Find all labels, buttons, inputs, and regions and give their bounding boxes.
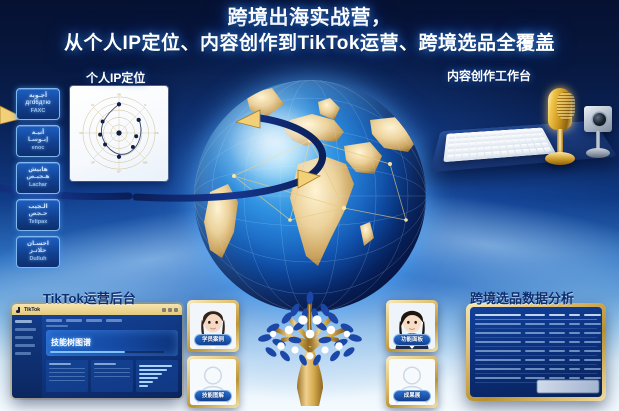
person-card-skill-diagram[interactable]: 技能图解 [187, 356, 239, 408]
sidebar-item[interactable] [15, 336, 33, 339]
content-studio-scene [430, 82, 616, 192]
stat-card[interactable] [46, 360, 88, 392]
cell [525, 368, 545, 370]
music-note-icon [16, 307, 22, 313]
dashboard-sidebar[interactable] [12, 315, 42, 398]
radar-chart: ABCD EFGH IJKL MNOP [78, 92, 160, 174]
cell [549, 377, 565, 379]
microphone-grill [557, 92, 575, 120]
cell [569, 377, 580, 379]
card-heading [94, 363, 116, 365]
svg-text:CD: CD [155, 131, 159, 135]
cell [569, 323, 580, 325]
cell [584, 359, 601, 361]
breadcrumb [46, 325, 68, 327]
card-line [94, 372, 130, 374]
card-line [49, 376, 85, 378]
stat-card[interactable] [91, 360, 133, 392]
cell [475, 323, 521, 325]
camera-lens [593, 113, 606, 126]
table-row[interactable] [475, 329, 597, 338]
bar [139, 365, 172, 367]
badge-line-3: FAXC [17, 108, 59, 116]
ip-positioning-panel: ABCD EFGH IJKL MNOP [70, 86, 168, 181]
card-heading [49, 363, 71, 365]
table-row[interactable] [475, 365, 597, 374]
language-badge[interactable]: احسـان حلاتـز Dulluh [16, 236, 60, 268]
column-header [569, 314, 580, 316]
cell [549, 323, 565, 325]
progress-bar [50, 351, 164, 353]
camera-body [584, 106, 612, 132]
cell [549, 332, 565, 334]
column-header [475, 314, 521, 316]
cell [584, 368, 601, 370]
bar-chart-card[interactable] [136, 360, 178, 392]
cell [475, 350, 521, 352]
person-card-label: 成果展 [393, 390, 431, 402]
sidebar-item[interactable] [15, 328, 36, 331]
bar [139, 385, 148, 387]
sidebar-item[interactable] [15, 344, 35, 347]
caption-content-studio: 内容创作工作台 [447, 67, 531, 84]
dashboard-main: 技能树图谱 [42, 315, 182, 398]
cell [525, 341, 545, 343]
cell [525, 332, 545, 334]
card-line [49, 372, 85, 374]
title-line-2: 从个人IP定位、内容创作到TikTok运营、跨境选品全覆盖 [0, 32, 619, 56]
cell [584, 332, 601, 334]
cell [569, 332, 580, 334]
person-card-results[interactable]: 成果展 [386, 356, 438, 408]
maximize-icon[interactable] [168, 308, 172, 312]
camera-icon [582, 106, 614, 166]
hero-banner: 技能树图谱 [46, 330, 178, 356]
cell [584, 377, 601, 379]
cell [525, 350, 545, 352]
bar [139, 369, 167, 371]
bar [139, 377, 158, 379]
watermark-overlay [537, 380, 599, 393]
minimize-icon[interactable] [162, 308, 166, 312]
analytics-device-frame [466, 303, 606, 401]
cell [549, 341, 565, 343]
column-header [584, 314, 601, 316]
caption-tiktok-backend: TikTok运营后台 [43, 288, 136, 307]
bar [139, 373, 162, 375]
cell [549, 359, 565, 361]
cell [475, 341, 521, 343]
sidebar-item[interactable] [15, 352, 31, 355]
dashboard-body: 技能树图谱 [12, 315, 182, 398]
svg-text:MN: MN [143, 160, 147, 164]
cell [475, 377, 521, 379]
cell [475, 368, 521, 370]
cell [475, 332, 521, 334]
cell [569, 341, 580, 343]
camera-base [586, 148, 610, 158]
bar [139, 381, 153, 383]
person-card-inner: 技能图解 [190, 359, 236, 405]
badge-line-2: حلاتـز [17, 248, 59, 256]
cell [584, 341, 601, 343]
tab-item[interactable] [86, 319, 102, 322]
badge-line-2: إبـوسـا [17, 137, 59, 145]
caption-ip-positioning: 个人IP定位 [86, 69, 145, 86]
poster-title: 跨境出海实战营， 从个人IP定位、内容创作到TikTok运营、跨境选品全覆盖 [0, 6, 619, 56]
person-card-inner: 成果展 [389, 359, 435, 405]
tab-item[interactable] [106, 319, 122, 322]
microphone-body [548, 88, 572, 130]
hero-title: 技能树图谱 [51, 337, 91, 348]
cell [475, 359, 521, 361]
person-card-label: 技能图解 [194, 390, 232, 402]
window-controls[interactable] [162, 308, 178, 312]
person-card-label: 学员案例 [194, 334, 232, 346]
cell [525, 323, 545, 325]
cell [584, 350, 601, 352]
cell [569, 368, 580, 370]
tiktok-logo: TikTok [16, 307, 40, 313]
language-badge[interactable]: أنيـة إبـوسـا enoc [16, 125, 60, 157]
cell [525, 359, 545, 361]
card-line [94, 368, 130, 370]
person-card-feature-panel[interactable]: 功能面板 [386, 300, 438, 352]
person-card-inner: 功能面板 [389, 303, 435, 349]
table-row[interactable] [475, 338, 597, 347]
microphone-icon [542, 88, 578, 170]
tab-item[interactable] [46, 319, 62, 322]
tiktok-logo-text: TikTok [24, 307, 40, 313]
card-line [49, 380, 85, 382]
language-badge-stack: أجـوبة дгd6дтю FAXC أنيـة إبـوسـا enoc ھ… [16, 88, 62, 273]
cell [569, 350, 580, 352]
badge-line-3: Lachar [17, 182, 59, 190]
table-row[interactable] [475, 347, 597, 356]
badge-line-2: дгd6дтю [17, 100, 59, 108]
table-row[interactable] [475, 356, 597, 365]
cell [525, 377, 545, 379]
language-badge[interactable]: ھابيش ھـجيـص Lachar [16, 162, 60, 194]
tiktok-backend-dashboard[interactable]: TikTok [12, 304, 182, 398]
caption-product-analytics: 跨境选品数据分析 [470, 288, 574, 307]
person-card-student-case[interactable]: 学员案例 [187, 300, 239, 352]
dashboard-tabs[interactable] [46, 319, 178, 322]
table-header-row [475, 311, 597, 320]
tab-item[interactable] [66, 319, 82, 322]
svg-text:AB: AB [117, 92, 121, 96]
person-card-inner: 学员案例 [190, 303, 236, 349]
cell [549, 368, 565, 370]
column-header [525, 314, 545, 316]
badge-line-3: Telipax [17, 219, 59, 227]
svg-text:IJ: IJ [144, 103, 147, 107]
sidebar-item[interactable] [15, 320, 32, 323]
badge-line-3: enoc [17, 145, 59, 153]
svg-text:GH: GH [79, 131, 83, 135]
svg-text:OP: OP [91, 160, 95, 164]
table-row[interactable] [475, 320, 597, 329]
card-line [94, 376, 130, 378]
badge-line-3: Dulluh [17, 256, 59, 264]
card-line [49, 368, 85, 370]
badge-line-2: حـجص [17, 211, 59, 219]
title-line-1: 跨境出海实战营， [0, 6, 619, 30]
close-icon[interactable] [174, 308, 178, 312]
cell [549, 350, 565, 352]
svg-text:KL: KL [91, 103, 95, 107]
cell [584, 323, 601, 325]
svg-text:EF: EF [117, 169, 121, 173]
cell [569, 359, 580, 361]
dashboard-cards [46, 360, 178, 392]
badge-line-2: ھـجيـص [17, 174, 59, 182]
language-badge[interactable]: الـجيب حـجص Telipax [16, 199, 60, 231]
person-card-label: 功能面板 [393, 334, 431, 346]
skill-tree-illustration [243, 288, 377, 411]
language-badge[interactable]: أجـوبة дгd6дтю FAXC [16, 88, 60, 120]
poster-canvas: 跨境出海实战营， 从个人IP定位、内容创作到TikTok运营、跨境选品全覆盖 个… [0, 0, 619, 411]
microphone-base [545, 152, 575, 165]
column-header [549, 314, 565, 316]
